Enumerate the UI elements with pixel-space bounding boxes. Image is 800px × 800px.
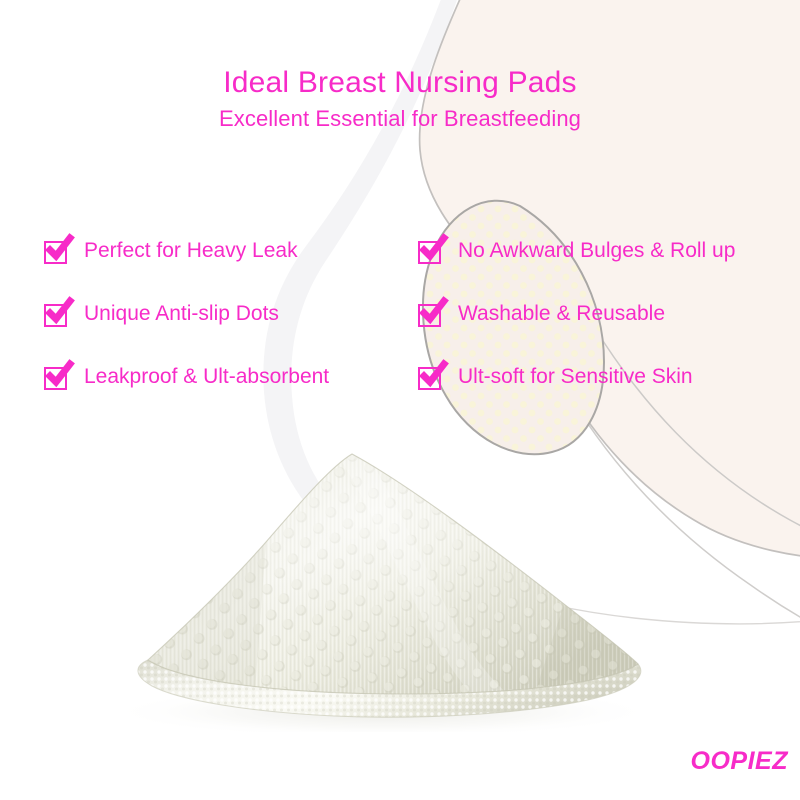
feature-item: Leakproof & Ult-absorbent <box>44 362 414 392</box>
feature-label: Ult-soft for Sensitive Skin <box>458 364 693 390</box>
checkbox-checked-icon <box>44 364 71 391</box>
feature-item: No Awkward Bulges & Roll up <box>418 236 800 266</box>
feature-label: Perfect for Heavy Leak <box>84 238 298 264</box>
feature-item: Washable & Reusable <box>418 299 800 329</box>
product-marketing-image: Ideal Breast Nursing Pads Excellent Esse… <box>0 0 800 800</box>
checkbox-checked-icon <box>418 238 445 265</box>
page-title: Ideal Breast Nursing Pads <box>0 66 800 100</box>
feature-label: Washable & Reusable <box>458 301 665 327</box>
checkbox-checked-icon <box>44 238 71 265</box>
brand-logo: OOPIEZ <box>691 747 788 776</box>
feature-label: No Awkward Bulges & Roll up <box>458 238 735 264</box>
feature-item: Unique Anti-slip Dots <box>44 299 414 329</box>
feature-item: Perfect for Heavy Leak <box>44 236 414 266</box>
feature-label: Unique Anti-slip Dots <box>84 301 279 327</box>
checkbox-checked-icon <box>44 301 71 328</box>
feature-list-right: No Awkward Bulges & Roll up Washable & R… <box>418 236 800 425</box>
checkbox-checked-icon <box>418 364 445 391</box>
checkbox-checked-icon <box>418 301 445 328</box>
header-block: Ideal Breast Nursing Pads Excellent Esse… <box>0 66 800 131</box>
product-photo <box>52 432 692 732</box>
page-subtitle: Excellent Essential for Breastfeeding <box>0 106 800 131</box>
feature-item: Ult-soft for Sensitive Skin <box>418 362 800 392</box>
feature-label: Leakproof & Ult-absorbent <box>84 364 329 390</box>
feature-list-left: Perfect for Heavy Leak Unique Anti-slip … <box>44 236 414 425</box>
